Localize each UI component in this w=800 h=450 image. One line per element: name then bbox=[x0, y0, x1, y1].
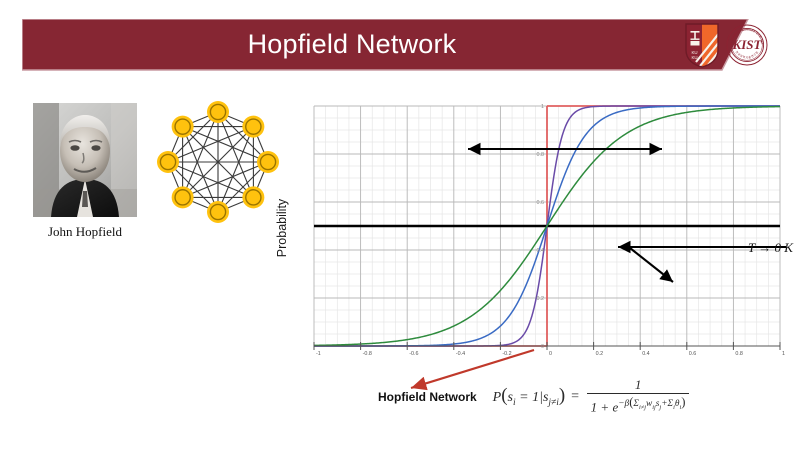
formula-equals: = bbox=[570, 389, 579, 405]
network-node bbox=[157, 151, 179, 173]
y-tick-label: 0.6 bbox=[537, 200, 545, 206]
x-tick-label: -0.8 bbox=[363, 351, 372, 356]
ku-shield-logo: KU KU bbox=[684, 22, 720, 68]
y-tick-label: 0.4 bbox=[537, 248, 545, 254]
formula-tag-label: Hopfield Network bbox=[378, 390, 477, 404]
formula-eq-one: = 1 bbox=[519, 390, 539, 405]
x-tick-label: -1 bbox=[316, 351, 321, 356]
network-node bbox=[207, 101, 229, 123]
formula-row: Hopfield Network P(si = 1|sj≠i) = 1 1 + … bbox=[378, 378, 691, 416]
slide-canvas: Hopfield Network bbox=[0, 0, 800, 450]
network-node bbox=[207, 201, 229, 223]
formula-exp-sum1-sub: i≠j bbox=[639, 404, 646, 411]
network-node bbox=[172, 116, 194, 138]
y-tick-label: 0.2 bbox=[537, 296, 545, 302]
formula-exponent: −β(Σi≠jwijsj+Σiθi) bbox=[618, 399, 685, 409]
chart-plot-area: -1-0.8-0.6-0.4-0.200.20.40.60.81 00.20.4… bbox=[300, 100, 786, 356]
formula-p: P bbox=[493, 390, 502, 405]
network-node bbox=[242, 116, 264, 138]
network-node bbox=[257, 151, 279, 173]
x-tick-label: 0.2 bbox=[596, 351, 604, 356]
formula-den-lead: 1 + e bbox=[591, 399, 619, 414]
hopfield-network-graph bbox=[150, 96, 286, 236]
t-to-zero-label: T → 0 K bbox=[748, 240, 793, 256]
x-tick-label: 0.4 bbox=[642, 351, 650, 356]
x-tick-label: 0.8 bbox=[735, 351, 743, 356]
portrait-block: John Hopfield bbox=[33, 103, 137, 240]
y-axis-label: Probability bbox=[275, 199, 289, 257]
formula-denominator: 1 + e−β(Σi≠jwijsj+Σiθi) bbox=[587, 393, 690, 416]
john-hopfield-photo bbox=[33, 103, 137, 217]
formula-si-sub: i bbox=[513, 398, 516, 408]
svg-text:KU: KU bbox=[691, 55, 697, 60]
formula-lhs: P(si = 1|sj≠i) bbox=[493, 385, 566, 408]
y-tick-label: 1 bbox=[541, 104, 544, 110]
header-band bbox=[22, 19, 748, 69]
formula-sj-sub: j≠i bbox=[548, 398, 559, 408]
formula-numerator: 1 bbox=[629, 378, 648, 393]
portrait-caption: John Hopfield bbox=[33, 224, 137, 240]
x-tick-label: 1 bbox=[782, 351, 785, 356]
y-tick-label: 0.8 bbox=[537, 152, 545, 158]
network-node bbox=[242, 186, 264, 208]
svg-text:KIST: KIST bbox=[732, 37, 763, 52]
kist-seal-logo: Korea Institute of Science and Technolog… bbox=[726, 24, 768, 66]
formula-fraction: 1 1 + e−β(Σi≠jwijsj+Σiθi) bbox=[587, 378, 690, 416]
x-tick-label: 0.6 bbox=[689, 351, 697, 356]
probability-bias-chart: -1-0.8-0.6-0.4-0.200.20.40.60.81 00.20.4… bbox=[300, 100, 786, 356]
hopfield-probability-formula: P(si = 1|sj≠i) = 1 1 + e−β(Σi≠jwijsj+Σiθ… bbox=[493, 378, 692, 416]
network-node bbox=[172, 186, 194, 208]
formula-exp-beta: −β bbox=[618, 399, 629, 409]
